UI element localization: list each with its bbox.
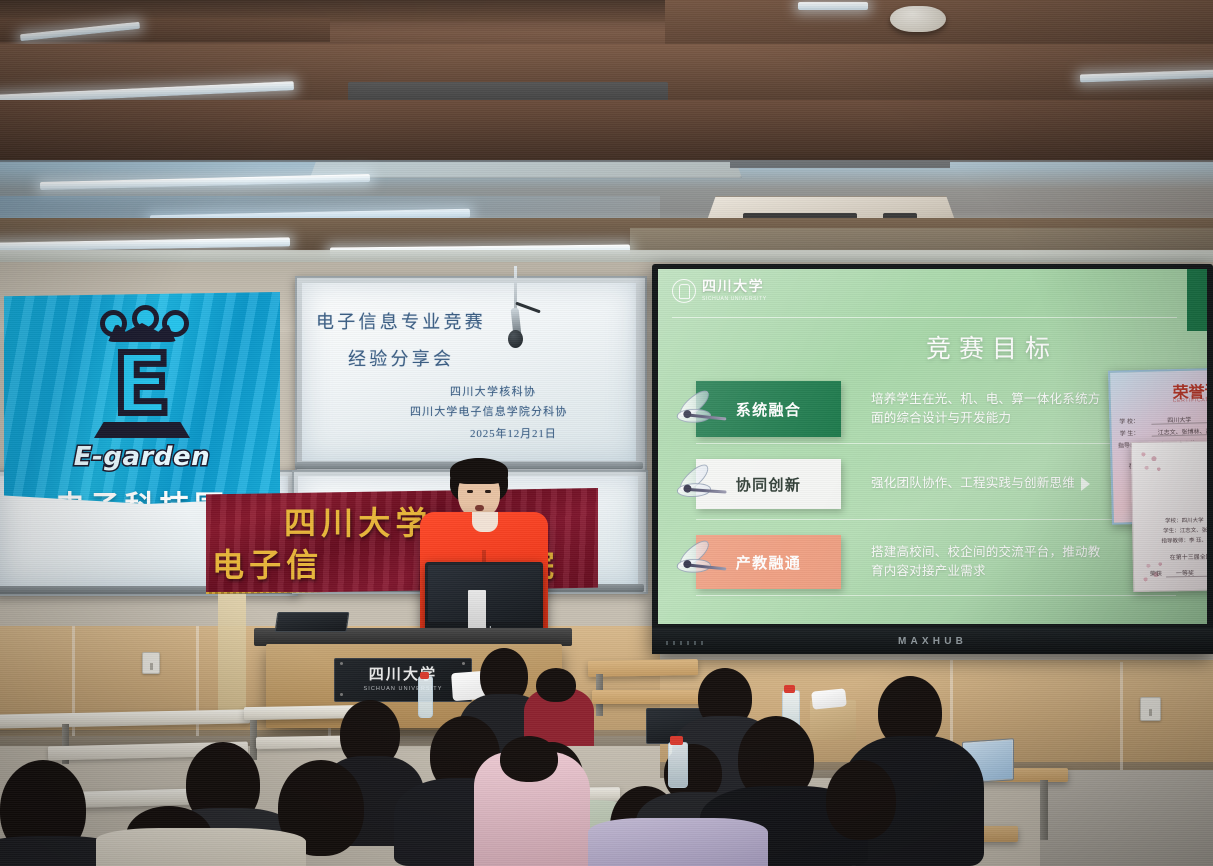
goal-desc-2: 强化团队协作、工程实践与创新思维 — [871, 474, 1075, 493]
podium-screw-2 — [462, 662, 465, 665]
goal-divider-1 — [696, 443, 1168, 444]
podium-device[interactable] — [275, 612, 350, 632]
audience-head-pink — [500, 736, 558, 782]
slide-accent-bar — [1187, 269, 1207, 331]
display-bottom-bezel: MAXHUB — [652, 628, 1213, 654]
certificate-2-teacher: 指导教师：李 珏、李小峰 — [1161, 535, 1207, 544]
audience-lavender-jacket — [588, 818, 768, 866]
maxhub-display[interactable]: 四川大学 SICHUAN UNIVERSITY 竞赛目标 系统融合 培养学生在光… — [652, 264, 1213, 654]
display-indicator-led — [666, 641, 708, 645]
lecture-hall-photo: 电子信息专业竞赛 经验分享会 四川大学核科协 四川大学电子信息学院分科协 202… — [0, 0, 1213, 866]
goal-label-2: 协同创新 — [736, 474, 801, 495]
certificate-image-2[interactable]: 学校：四川大学 学生：江志文、张博林、高 指导教师：李 珏、李小峰 在第十三届全… — [1131, 440, 1207, 592]
certificate-1-subtitle: CERTIFICATE — [1173, 397, 1207, 404]
bottle-cap-desk — [784, 685, 795, 693]
whiteboard-surface[interactable]: 电子信息专业竞赛 经验分享会 四川大学核科协 四川大学电子信息学院分科协 202… — [302, 283, 636, 461]
microphone-head — [508, 330, 523, 348]
audience-head-red — [536, 668, 576, 702]
certificate-1-student-label: 学 生： — [1120, 428, 1140, 438]
ceiling-light-2 — [798, 2, 868, 10]
right-desk-1-leg — [1040, 780, 1048, 840]
maxhub-brand-label: MAXHUB — [898, 636, 967, 647]
goal-desc-3: 搭建高校间、校企间的交流平台，推动教育内容对接产业需求 — [871, 543, 1111, 582]
university-seal-icon — [672, 279, 696, 303]
audience-cream-coat — [96, 828, 306, 866]
power-outlet-icon[interactable] — [142, 652, 160, 674]
goal-divider-3 — [696, 595, 1176, 596]
back-desk-1 — [588, 659, 698, 677]
whiteboard-title-line-1: 电子信息专业竞赛 — [316, 308, 486, 334]
goal-desc-1: 培养学生在光、机、电、算一体化系统方面的综合设计与开发能力 — [871, 390, 1111, 429]
slide-university-logo: 四川大学 SICHUAN UNIVERSITY — [672, 279, 767, 303]
whiteboard-org-2: 四川大学电子信息学院分科协 — [410, 403, 567, 419]
ceiling-panel-a — [0, 18, 330, 42]
water-bottle-podium[interactable] — [418, 676, 433, 718]
slide-title: 竞赛目标 — [926, 329, 1058, 365]
e-garden-letter: E — [106, 344, 178, 428]
tissue-on-bag — [811, 688, 847, 709]
certificate-2-student: 学生：江志文、张博林、高 — [1163, 525, 1207, 534]
whiteboard-org-1: 四川大学核科协 — [450, 383, 536, 399]
audience-head-14 — [826, 760, 896, 840]
whiteboard-date: 2025年12月21日 — [470, 425, 557, 441]
power-outlet-icon-2[interactable] — [1140, 697, 1161, 721]
curtain — [218, 594, 246, 720]
goal-row-2: 协同创新 强化团队协作、工程实践与创新思维 — [696, 459, 1176, 509]
red-banner-line-2-left: 电子信 — [212, 540, 323, 586]
back-desk-2 — [592, 690, 712, 704]
podium-screw-1 — [340, 662, 343, 665]
presenter-eye-right — [485, 490, 491, 493]
presenter-fringe — [450, 458, 508, 484]
certificate-2-body: 在第十三届全国大学生 — [1170, 551, 1207, 561]
slide-logo-cn: 四川大学 — [702, 281, 767, 295]
play-arrow-icon-2[interactable] — [1081, 477, 1090, 491]
whiteboard-title-line-2: 经验分享会 — [348, 345, 454, 371]
goal-divider-2 — [696, 519, 1172, 520]
slide-header-rule — [672, 317, 1177, 318]
certificate-2-award-label: 荣获 — [1150, 569, 1162, 578]
presenter-mouth — [475, 505, 484, 511]
e-garden-logo: E E-garden 电子科技园 — [4, 308, 280, 526]
e-garden-wordmark: E-garden — [4, 442, 280, 472]
goal-label-3: 产教融通 — [736, 552, 801, 573]
goal-row-3: 产教融通 搭建高校间、校企间的交流平台，推动教育内容对接产业需求 — [696, 535, 1176, 589]
banner-e-garden: E E-garden 电子科技园 — [4, 292, 280, 504]
presenter-eye-left — [467, 490, 473, 493]
slide-logo-en: SICHUAN UNIVERSITY — [702, 297, 767, 302]
ceiling-beam-3 — [0, 100, 1213, 162]
presentation-slide: 四川大学 SICHUAN UNIVERSITY 竞赛目标 系统融合 培养学生在光… — [658, 269, 1207, 624]
wall-seam-6 — [1120, 662, 1123, 774]
goal-label-1: 系统融合 — [736, 399, 801, 420]
certificate-1-school-label: 学 校： — [1119, 416, 1139, 426]
e-garden-base — [94, 422, 190, 438]
smoke-detector-icon — [890, 6, 946, 32]
bottle-cap-audience — [670, 736, 683, 745]
water-bottle-audience[interactable] — [668, 742, 688, 788]
certificate-2-school: 学校：四川大学 — [1165, 516, 1204, 525]
goal-row-1: 系统融合 培养学生在光、机、电、算一体化系统方面的综合设计与开发能力 — [696, 381, 1176, 437]
floor — [1040, 770, 1213, 866]
presenter-collar — [472, 512, 498, 532]
podium-screw-3 — [340, 693, 343, 696]
red-banner-line-1: 四川大学 — [284, 498, 432, 544]
bottle-cap-podium — [420, 672, 429, 679]
